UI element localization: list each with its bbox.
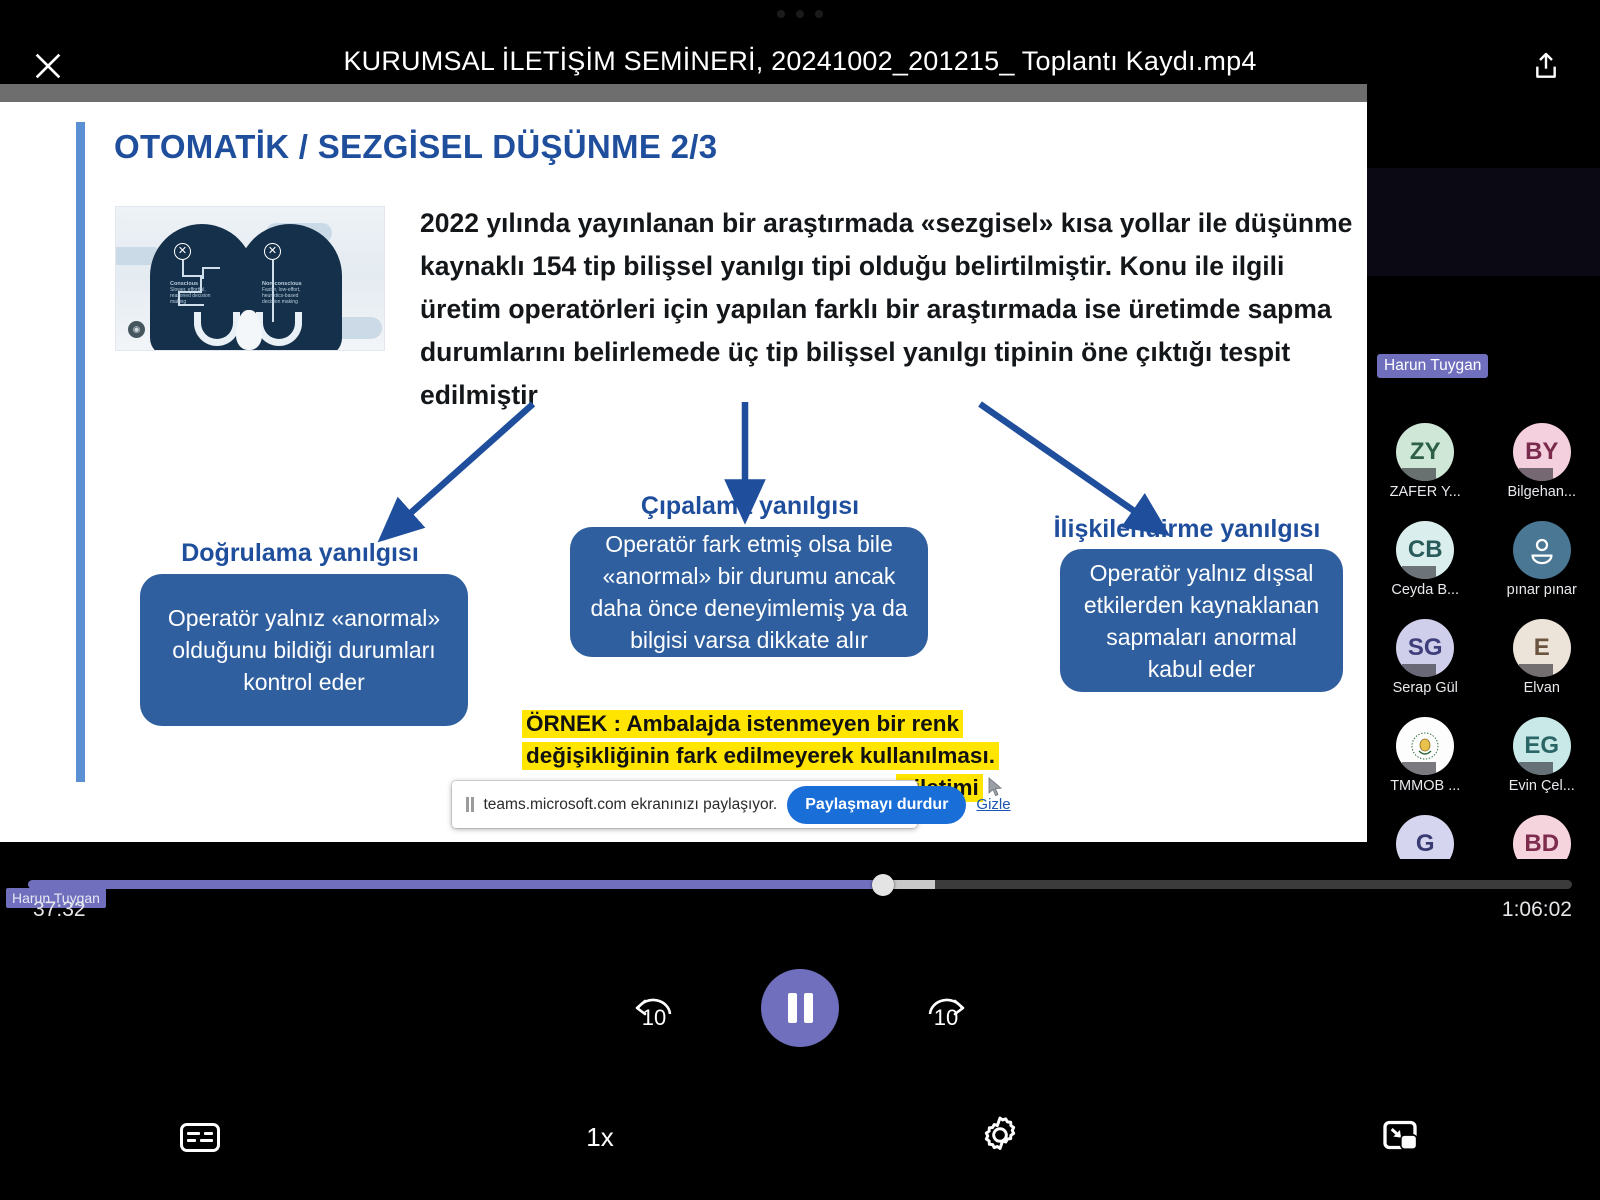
screen-share-toast: teams.microsoft.com ekranınızı paylaşıyo… bbox=[452, 781, 917, 828]
video-stage[interactable]: OTOMATİK / SEZGİSEL DÜŞÜNME 2/3 ✕ ✕ bbox=[0, 84, 1600, 859]
shared-slide: OTOMATİK / SEZGİSEL DÜŞÜNME 2/3 ✕ ✕ bbox=[0, 102, 1367, 842]
rail-top-tile bbox=[1367, 168, 1600, 276]
avatar: EG bbox=[1513, 717, 1571, 775]
avatar-initials: ZY bbox=[1410, 438, 1441, 466]
slide-illustration: ✕ ✕ Conscious Slower, effortful, reasone… bbox=[115, 206, 385, 351]
picture-in-picture-button[interactable] bbox=[1380, 1115, 1420, 1160]
avatar: CB bbox=[1396, 521, 1454, 579]
avatar-shadow bbox=[1519, 762, 1553, 775]
participant-tile[interactable]: TMMOB ... bbox=[1367, 717, 1484, 794]
participant-name: Elvan bbox=[1524, 680, 1560, 696]
slide-title: OTOMATİK / SEZGİSEL DÜŞÜNME 2/3 bbox=[114, 128, 717, 166]
avatar-shadow bbox=[1402, 566, 1436, 579]
avatar-shadow bbox=[1402, 762, 1436, 775]
caption-body: Slower, effortful, reasoned decision mak… bbox=[170, 287, 211, 305]
illustration-caption-right: Non-conscious Faster, low-effort, heuris… bbox=[262, 281, 308, 305]
pause-icon-bar-right bbox=[804, 993, 813, 1023]
slide-accent-bar bbox=[76, 122, 85, 782]
avatar-initials: BD bbox=[1524, 830, 1559, 858]
forward-seconds-label: 10 bbox=[909, 1005, 983, 1031]
illustration-caption-left: Conscious Slower, effortful, reasoned de… bbox=[170, 281, 216, 305]
caption-body: Faster, low-effort, heuristics-based dec… bbox=[262, 287, 301, 305]
branch-2-title: Çıpalama yanılgısı bbox=[600, 492, 900, 521]
participant-tile[interactable]: EG Evin Çel... bbox=[1484, 717, 1600, 794]
seek-handle[interactable] bbox=[872, 874, 894, 896]
cc-row-top bbox=[187, 1132, 213, 1135]
total-duration: 1:06:02 bbox=[1502, 898, 1572, 922]
avatar-initials: G bbox=[1416, 830, 1435, 858]
participant-name: Evin Çel... bbox=[1509, 778, 1575, 794]
stop-sharing-button[interactable]: Paylaşmayı durdur bbox=[787, 786, 966, 824]
bottom-toolbar: 1x bbox=[0, 1082, 1600, 1192]
dot-3 bbox=[815, 10, 823, 18]
flame-shape bbox=[236, 310, 262, 350]
branch-1-box: Operatör yalnız «anormal» olduğunu bildi… bbox=[140, 574, 468, 726]
playback-speed-button[interactable]: 1x bbox=[586, 1122, 613, 1153]
header-bar: KURUMSAL İLETİŞİM SEMİNERİ, 20241002_201… bbox=[0, 30, 1600, 92]
arrow-to-branch-3 bbox=[980, 404, 1150, 522]
settings-button[interactable] bbox=[979, 1114, 1021, 1161]
branch-1-title: Doğrulama yanılgısı bbox=[150, 539, 450, 568]
branch-3-box: Operatör yalnız dışsal etkilerden kaynak… bbox=[1060, 549, 1343, 692]
avatar-shadow bbox=[1402, 468, 1436, 481]
avatar: BD bbox=[1513, 815, 1571, 859]
settings-slot bbox=[800, 1114, 1200, 1161]
participant-tile[interactable]: BY Bilgehan... bbox=[1484, 423, 1600, 500]
seek-bar[interactable] bbox=[0, 874, 1600, 896]
avatar: SG bbox=[1396, 619, 1454, 677]
dot-2 bbox=[796, 10, 804, 18]
x-marker-right: ✕ bbox=[264, 243, 281, 260]
avatar: G bbox=[1396, 815, 1454, 859]
pause-indicator-icon bbox=[466, 797, 474, 812]
transport-controls: 10 10 bbox=[0, 952, 1600, 1064]
participant-tile[interactable]: CB Ceyda B... bbox=[1367, 521, 1484, 598]
branch-2-box: Operatör fark etmiş olsa bile «anormal» … bbox=[570, 527, 928, 657]
maze-line bbox=[182, 260, 184, 276]
play-pause-button[interactable] bbox=[761, 969, 839, 1047]
branch-3-title: İlişkilendirme yanılgısı bbox=[1022, 515, 1352, 544]
x-marker-left: ✕ bbox=[174, 243, 191, 260]
participant-tile[interactable]: ZY ZAFER Y... bbox=[1367, 423, 1484, 500]
forward-10-button[interactable]: 10 bbox=[909, 971, 983, 1045]
avatar-initials: SG bbox=[1408, 634, 1443, 662]
mouse-cursor-icon bbox=[988, 777, 1004, 799]
seek-progress bbox=[28, 880, 883, 889]
person-icon bbox=[1527, 535, 1557, 565]
pause-icon-bar-left bbox=[788, 993, 797, 1023]
participant-name: Serap Gül bbox=[1393, 680, 1458, 696]
page-title: KURUMSAL İLETİŞİM SEMİNERİ, 20241002_201… bbox=[0, 46, 1600, 77]
shared-window-titlebar bbox=[0, 84, 1367, 102]
share-toast-message: teams.microsoft.com ekranınızı paylaşıyo… bbox=[484, 796, 778, 814]
avatar-shadow bbox=[1402, 664, 1436, 677]
maze-line bbox=[202, 267, 220, 269]
arrow-to-branch-1 bbox=[396, 404, 533, 526]
video-player-screen: KURUMSAL İLETİŞİM SEMİNERİ, 20241002_201… bbox=[0, 0, 1600, 1200]
participant-name: ZAFER Y... bbox=[1390, 484, 1461, 500]
avatar: E bbox=[1513, 619, 1571, 677]
drag-handle-dots bbox=[0, 10, 1600, 18]
close-icon bbox=[31, 49, 65, 83]
participant-name: Bilgehan... bbox=[1507, 484, 1576, 500]
highlight-line-2: değişikliğinin fark edilmeyerek kullanıl… bbox=[522, 742, 999, 770]
avatar: BY bbox=[1513, 423, 1571, 481]
speed-slot: 1x bbox=[400, 1122, 800, 1153]
current-time: 37:32 bbox=[33, 898, 86, 922]
maze-line bbox=[182, 275, 202, 277]
active-speaker-label: Harun Tuygan bbox=[1377, 354, 1488, 378]
highlight-line-1: ÖRNEK : Ambalajda istenmeyen bir renk bbox=[522, 710, 963, 738]
organization-logo-icon bbox=[1405, 726, 1445, 766]
participant-name: Ceyda B... bbox=[1391, 582, 1459, 598]
rewind-seconds-label: 10 bbox=[617, 1005, 691, 1031]
rewind-10-button[interactable]: 10 bbox=[617, 971, 691, 1045]
participant-name: pınar pınar bbox=[1507, 582, 1577, 598]
avatar bbox=[1396, 717, 1454, 775]
dot-1 bbox=[777, 10, 785, 18]
avatar-shadow bbox=[1519, 664, 1553, 677]
participant-tile[interactable]: E Elvan bbox=[1484, 619, 1600, 696]
participant-tile[interactable]: pınar pınar bbox=[1484, 521, 1600, 598]
cc-row-bottom bbox=[187, 1139, 213, 1142]
avatar: ZY bbox=[1396, 423, 1454, 481]
avatar-initials: E bbox=[1534, 634, 1550, 662]
captions-button[interactable] bbox=[180, 1123, 220, 1152]
pip-slot bbox=[1200, 1115, 1600, 1160]
gear-icon bbox=[979, 1114, 1021, 1156]
avatar-initials: EG bbox=[1524, 732, 1559, 760]
slide-paragraph: 2022 yılında yayınlanan bir araştırmada … bbox=[420, 202, 1367, 417]
participant-tile[interactable]: SG Serap Gül bbox=[1367, 619, 1484, 696]
participant-name: TMMOB ... bbox=[1390, 778, 1460, 794]
participant-grid: ZY ZAFER Y... BY Bilgehan... CB bbox=[1367, 423, 1600, 859]
source-badge-icon: ◉ bbox=[128, 321, 145, 338]
avatar-shadow bbox=[1519, 468, 1553, 481]
participant-rail: Harun Tuygan ZY ZAFER Y... BY Bilgehan..… bbox=[1367, 168, 1600, 859]
share-upload-icon bbox=[1530, 50, 1562, 82]
participant-tile[interactable]: G Gülay bbox=[1367, 815, 1484, 859]
avatar-initials: CB bbox=[1408, 536, 1443, 564]
picture-in-picture-icon bbox=[1380, 1115, 1420, 1155]
participant-tile[interactable]: BD BERFİN ... bbox=[1484, 815, 1600, 859]
avatar bbox=[1513, 521, 1571, 579]
avatar-initials: BY bbox=[1525, 438, 1558, 466]
captions-slot bbox=[0, 1123, 400, 1152]
